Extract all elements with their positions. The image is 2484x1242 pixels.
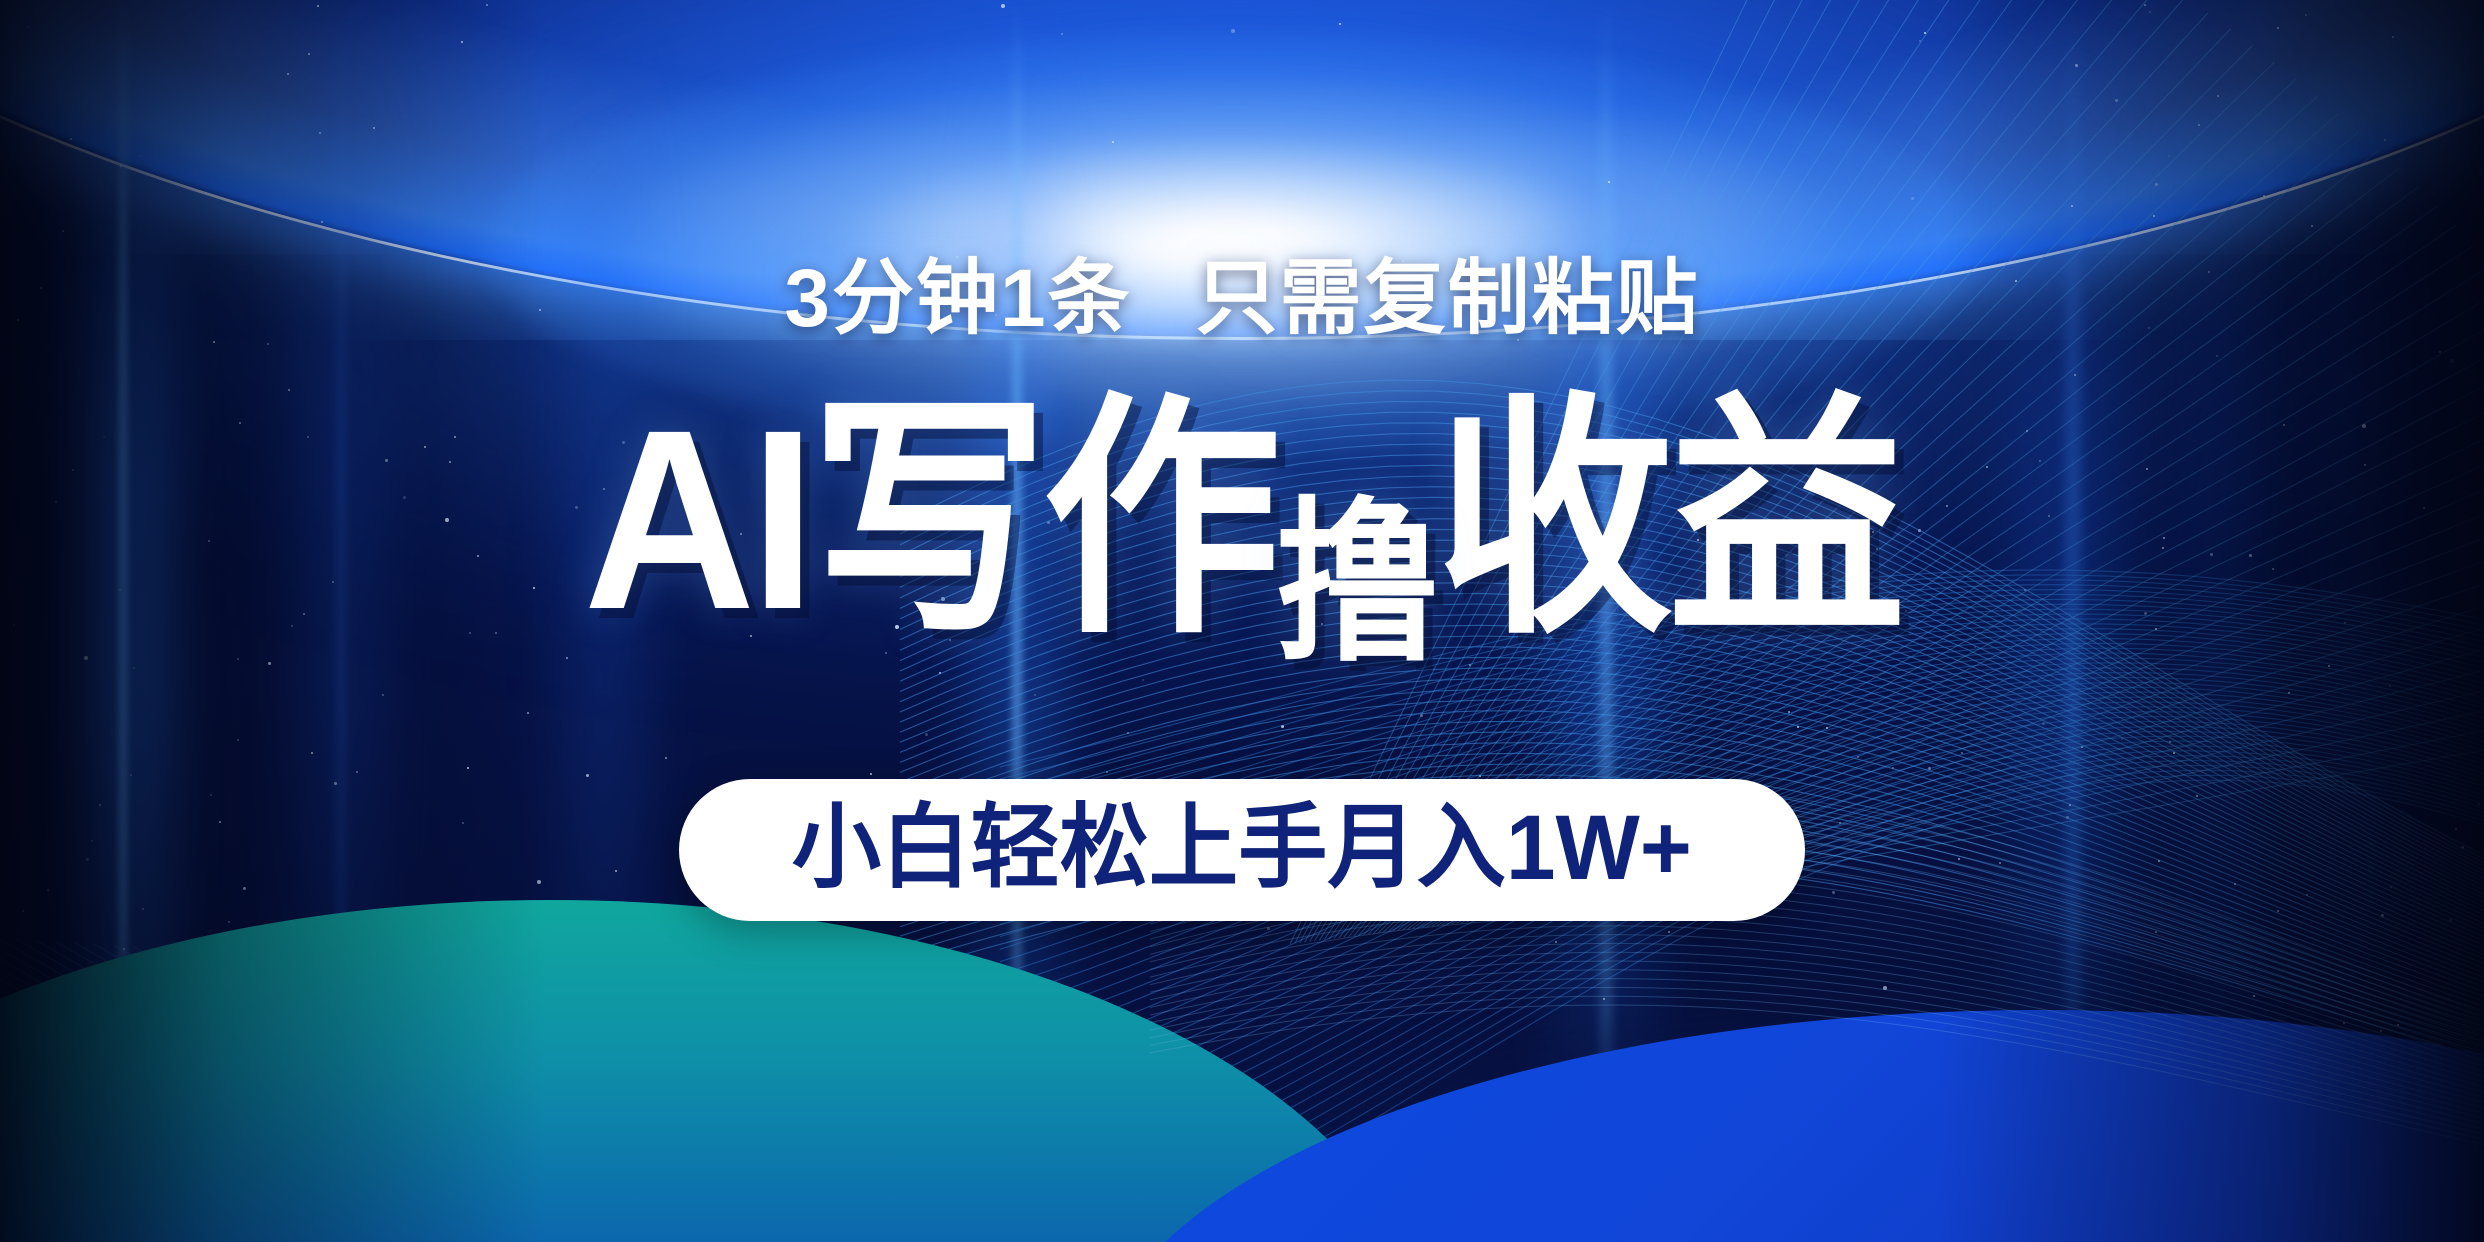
main-title-part1: AI写作	[584, 377, 1276, 663]
main-title-part2: 收益	[1435, 377, 1900, 663]
main-title-lu: 撸	[1275, 496, 1435, 672]
poster-canvas: 3分钟1条只需复制粘贴 AI写作撸收益 小白轻松上手月入1W+	[0, 0, 2484, 1242]
subtitle-left: 3分钟1条	[784, 253, 1131, 344]
subtitle-line: 3分钟1条只需复制粘贴	[0, 258, 2484, 340]
highlight-pill: 小白轻松上手月入1W+	[679, 779, 1805, 921]
highlight-pill-text: 小白轻松上手月入1W+	[792, 802, 1692, 894]
poster-content: 3分钟1条只需复制粘贴 AI写作撸收益 小白轻松上手月入1W+	[0, 0, 2484, 1242]
main-title: AI写作撸收益	[87, 392, 2397, 648]
subtitle-right: 只需复制粘贴	[1196, 253, 1700, 344]
